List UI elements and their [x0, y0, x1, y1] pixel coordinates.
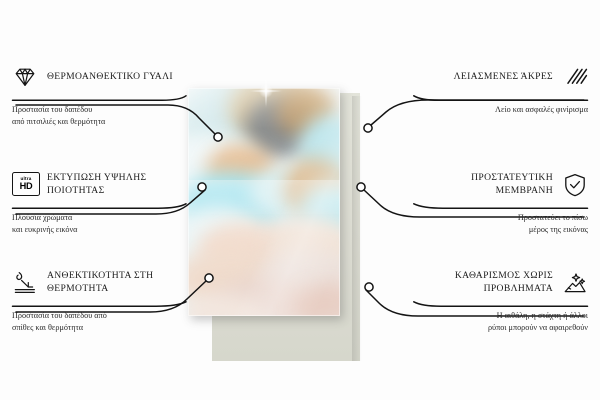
- feature-title: ΑΝΘΕΚΤΙΚΟΤΗΤΑ ΣΤΗ ΘΕΡΜΟΤΗΤΑ: [47, 270, 187, 295]
- feature-title: ΠΡΟΣΤΑΤΕΥΤΙΚΗ ΜΕΜΒΡΑΝΗ: [413, 172, 553, 197]
- feature-divider: [413, 301, 588, 308]
- feature-title: ΛΕΙΑΣΜΕΝΕΣ ΆΚΡΕΣ: [454, 71, 553, 84]
- shield-check-icon: [562, 172, 588, 198]
- diamond-icon: [12, 64, 38, 90]
- feature-heading: ΑΝΘΕΚΤΙΚΟΤΗΤΑ ΣΤΗ ΘΕΡΜΟΤΗΤΑ: [12, 268, 187, 298]
- feature-title: ΚΑΘΑΡΙΣΜΟΣ ΧΩΡΙΣ ΠΡΟΒΛΗΜΑΤΑ: [413, 270, 553, 295]
- feature-description: Προστασία του δαπέδου από σπίθες και θερ…: [12, 310, 187, 334]
- feature-heat-resistance: ΑΝΘΕΚΤΙΚΟΤΗΤΑ ΣΤΗ ΘΕΡΜΟΤΗΤΑ Προστασία το…: [12, 268, 187, 334]
- ultra-hd-icon: ultra HD: [12, 172, 38, 198]
- sparkle-clean-icon: [562, 270, 588, 296]
- feature-divider: [413, 203, 588, 210]
- feature-easy-cleaning: ΚΑΘΑΡΙΣΜΟΣ ΧΩΡΙΣ ΠΡΟΒΛΗΜΑΤΑ Η αιθάλη, η …: [413, 268, 588, 334]
- marble-artwork: [188, 88, 340, 316]
- feature-divider: [413, 95, 588, 102]
- feature-heading: ΠΡΟΣΤΑΤΕΥΤΙΚΗ ΜΕΜΒΡΑΝΗ: [413, 170, 588, 200]
- feature-heading: ΘΕΡΜΟΑΝΘΕΚΤΙΚΟ ΓΥΑΛΙ: [12, 62, 187, 92]
- feature-divider: [12, 301, 187, 308]
- feature-divider: [12, 95, 187, 102]
- feature-description: Πλούσια χρώματα και ευκρινής εικόνα: [12, 212, 187, 236]
- backdrop-shadow: [352, 96, 362, 361]
- feature-heading: ΚΑΘΑΡΙΣΜΟΣ ΧΩΡΙΣ ΠΡΟΒΛΗΜΑΤΑ: [413, 268, 588, 298]
- feature-description: Προστασία του δαπέδου από πιτσιλιές και …: [12, 104, 187, 128]
- connector-dot: [364, 124, 372, 132]
- feature-title: ΕΚΤΥΠΩΣΗ ΥΨΗΛΗΣ ΠΟΙΟΤΗΤΑΣ: [47, 172, 187, 197]
- product-glass-panel[interactable]: [188, 88, 340, 316]
- feature-heading: ΛΕΙΑΣΜΕΝΕΣ ΆΚΡΕΣ: [413, 62, 588, 92]
- feature-divider: [12, 203, 187, 210]
- feature-description: Λείο και ασφαλές φινίρισμα: [413, 104, 588, 116]
- feature-polished-edges: ΛΕΙΑΣΜΕΝΕΣ ΆΚΡΕΣ Λείο και ασφαλές φινίρι…: [413, 62, 588, 116]
- feature-high-quality-print: ultra HD ΕΚΤΥΠΩΣΗ ΥΨΗΛΗΣ ΠΟΙΟΤΗΤΑΣ Πλούσ…: [12, 170, 187, 236]
- feature-title: ΘΕΡΜΟΑΝΘΕΚΤΙΚΟ ΓΥΑΛΙ: [47, 71, 173, 84]
- feature-heat-resistant-glass: ΘΕΡΜΟΑΝΘΕΚΤΙΚΟ ΓΥΑΛΙ Προστασία του δαπέδ…: [12, 62, 187, 128]
- connector-dot: [365, 283, 373, 291]
- flame-heat-resistance-icon: [12, 270, 38, 296]
- feature-protective-film: ΠΡΟΣΤΑΤΕΥΤΙΚΗ ΜΕΜΒΡΑΝΗ Προστατεύει το πί…: [413, 170, 588, 236]
- feature-description: Η αιθάλη, η στάχτη ή άλλοι ρύποι μπορούν…: [413, 310, 588, 334]
- infographic-stage: ΘΕΡΜΟΑΝΘΕΚΤΙΚΟ ΓΥΑΛΙ Προστασία του δαπέδ…: [0, 0, 600, 400]
- feature-heading: ultra HD ΕΚΤΥΠΩΣΗ ΥΨΗΛΗΣ ΠΟΙΟΤΗΤΑΣ: [12, 170, 187, 200]
- polished-edges-icon: [562, 64, 588, 90]
- feature-description: Προστατεύει το πίσω μέρος της εικόνας: [413, 212, 588, 236]
